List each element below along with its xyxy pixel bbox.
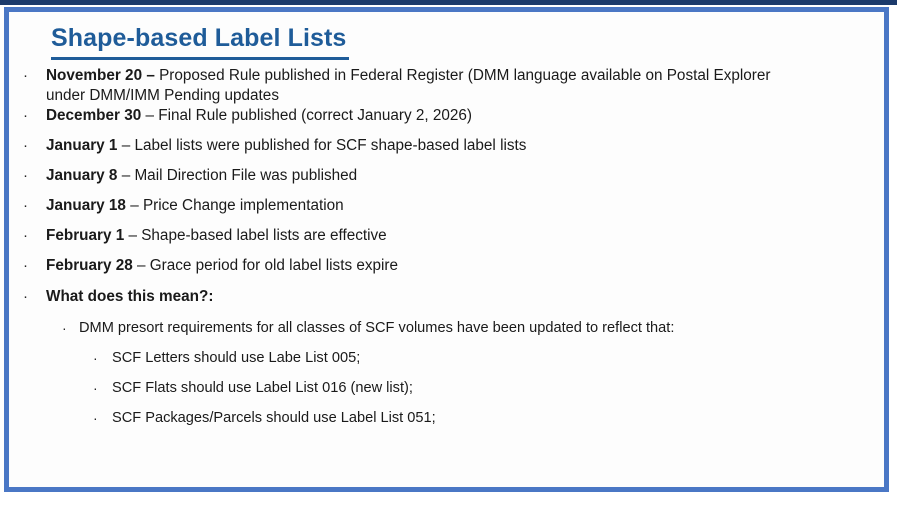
- sub-sub-list-item: · SCF Flats should use Label List 016 (n…: [9, 378, 884, 398]
- slide-body: · November 20 – Proposed Rule published …: [9, 66, 884, 428]
- bullet-marker-icon: ·: [93, 378, 98, 398]
- list-item: · January 1 – Label lists were published…: [9, 136, 884, 156]
- list-item: · November 20 – Proposed Rule published …: [9, 66, 884, 106]
- bullet-marker-icon: ·: [23, 166, 28, 186]
- list-item-text: – Shape-based label lists are effective: [128, 227, 386, 244]
- top-accent-rule: [0, 0, 897, 5]
- list-item: · January 18 – Price Change implementati…: [9, 196, 884, 216]
- list-item-lead: January 18: [46, 197, 130, 214]
- title-block: Shape-based Label Lists: [51, 23, 851, 60]
- list-item-lead: January 1: [46, 137, 122, 154]
- title-underline-rule: [51, 57, 349, 60]
- bullet-marker-icon: ·: [23, 106, 28, 126]
- bullet-marker-icon: ·: [23, 196, 28, 216]
- bullet-marker-icon: ·: [93, 408, 98, 428]
- bullet-marker-icon: ·: [93, 348, 98, 368]
- sub-sub-list-item-text: SCF Flats should use Label List 016 (new…: [112, 380, 413, 396]
- list-item-lead: February 28: [46, 257, 137, 274]
- list-item-lead: December 30: [46, 107, 146, 124]
- list-item-text: – Mail Direction File was published: [122, 167, 358, 184]
- list-item-lead: January 8: [46, 167, 122, 184]
- list-item-what-does-this-mean: · What does this mean?:: [9, 287, 884, 307]
- list-item-text: – Label lists were published for SCF sha…: [122, 137, 527, 154]
- list-item: · December 30 – Final Rule published (co…: [9, 106, 884, 126]
- sub-list-item: · DMM presort requirements for all class…: [9, 318, 884, 338]
- list-item: · January 8 – Mail Direction File was pu…: [9, 166, 884, 186]
- sub-sub-list-item-text: SCF Letters should use Labe List 005;: [112, 350, 360, 366]
- list-item-lead: February 1: [46, 227, 128, 244]
- sub-sub-list-item: · SCF Packages/Parcels should use Label …: [9, 408, 884, 428]
- list-item-text: – Price Change implementation: [130, 197, 343, 214]
- bullet-marker-icon: ·: [23, 66, 28, 86]
- sub-sub-list-item-text: SCF Packages/Parcels should use Label Li…: [112, 410, 436, 426]
- list-item-lead: What does this mean?:: [46, 288, 213, 305]
- slide-frame: Shape-based Label Lists · November 20 – …: [4, 7, 889, 492]
- list-item-text: – Final Rule published (correct January …: [146, 107, 473, 124]
- list-item-lead: November 20 –: [46, 67, 159, 84]
- list-item: · February 1 – Shape-based label lists a…: [9, 226, 884, 246]
- sub-sub-list-item: · SCF Letters should use Labe List 005;: [9, 348, 884, 368]
- slide-canvas: Shape-based Label Lists · November 20 – …: [9, 12, 884, 487]
- bullet-marker-icon: ·: [23, 226, 28, 246]
- sub-list-item-text: DMM presort requirements for all classes…: [79, 320, 674, 336]
- page-title: Shape-based Label Lists: [51, 23, 851, 53]
- bullet-marker-icon: ·: [23, 136, 28, 156]
- bullet-marker-icon: ·: [23, 287, 28, 307]
- bullet-marker-icon: ·: [62, 318, 67, 338]
- bullet-marker-icon: ·: [23, 256, 28, 276]
- list-item-text: – Grace period for old label lists expir…: [137, 257, 398, 274]
- list-item: · February 28 – Grace period for old lab…: [9, 256, 884, 276]
